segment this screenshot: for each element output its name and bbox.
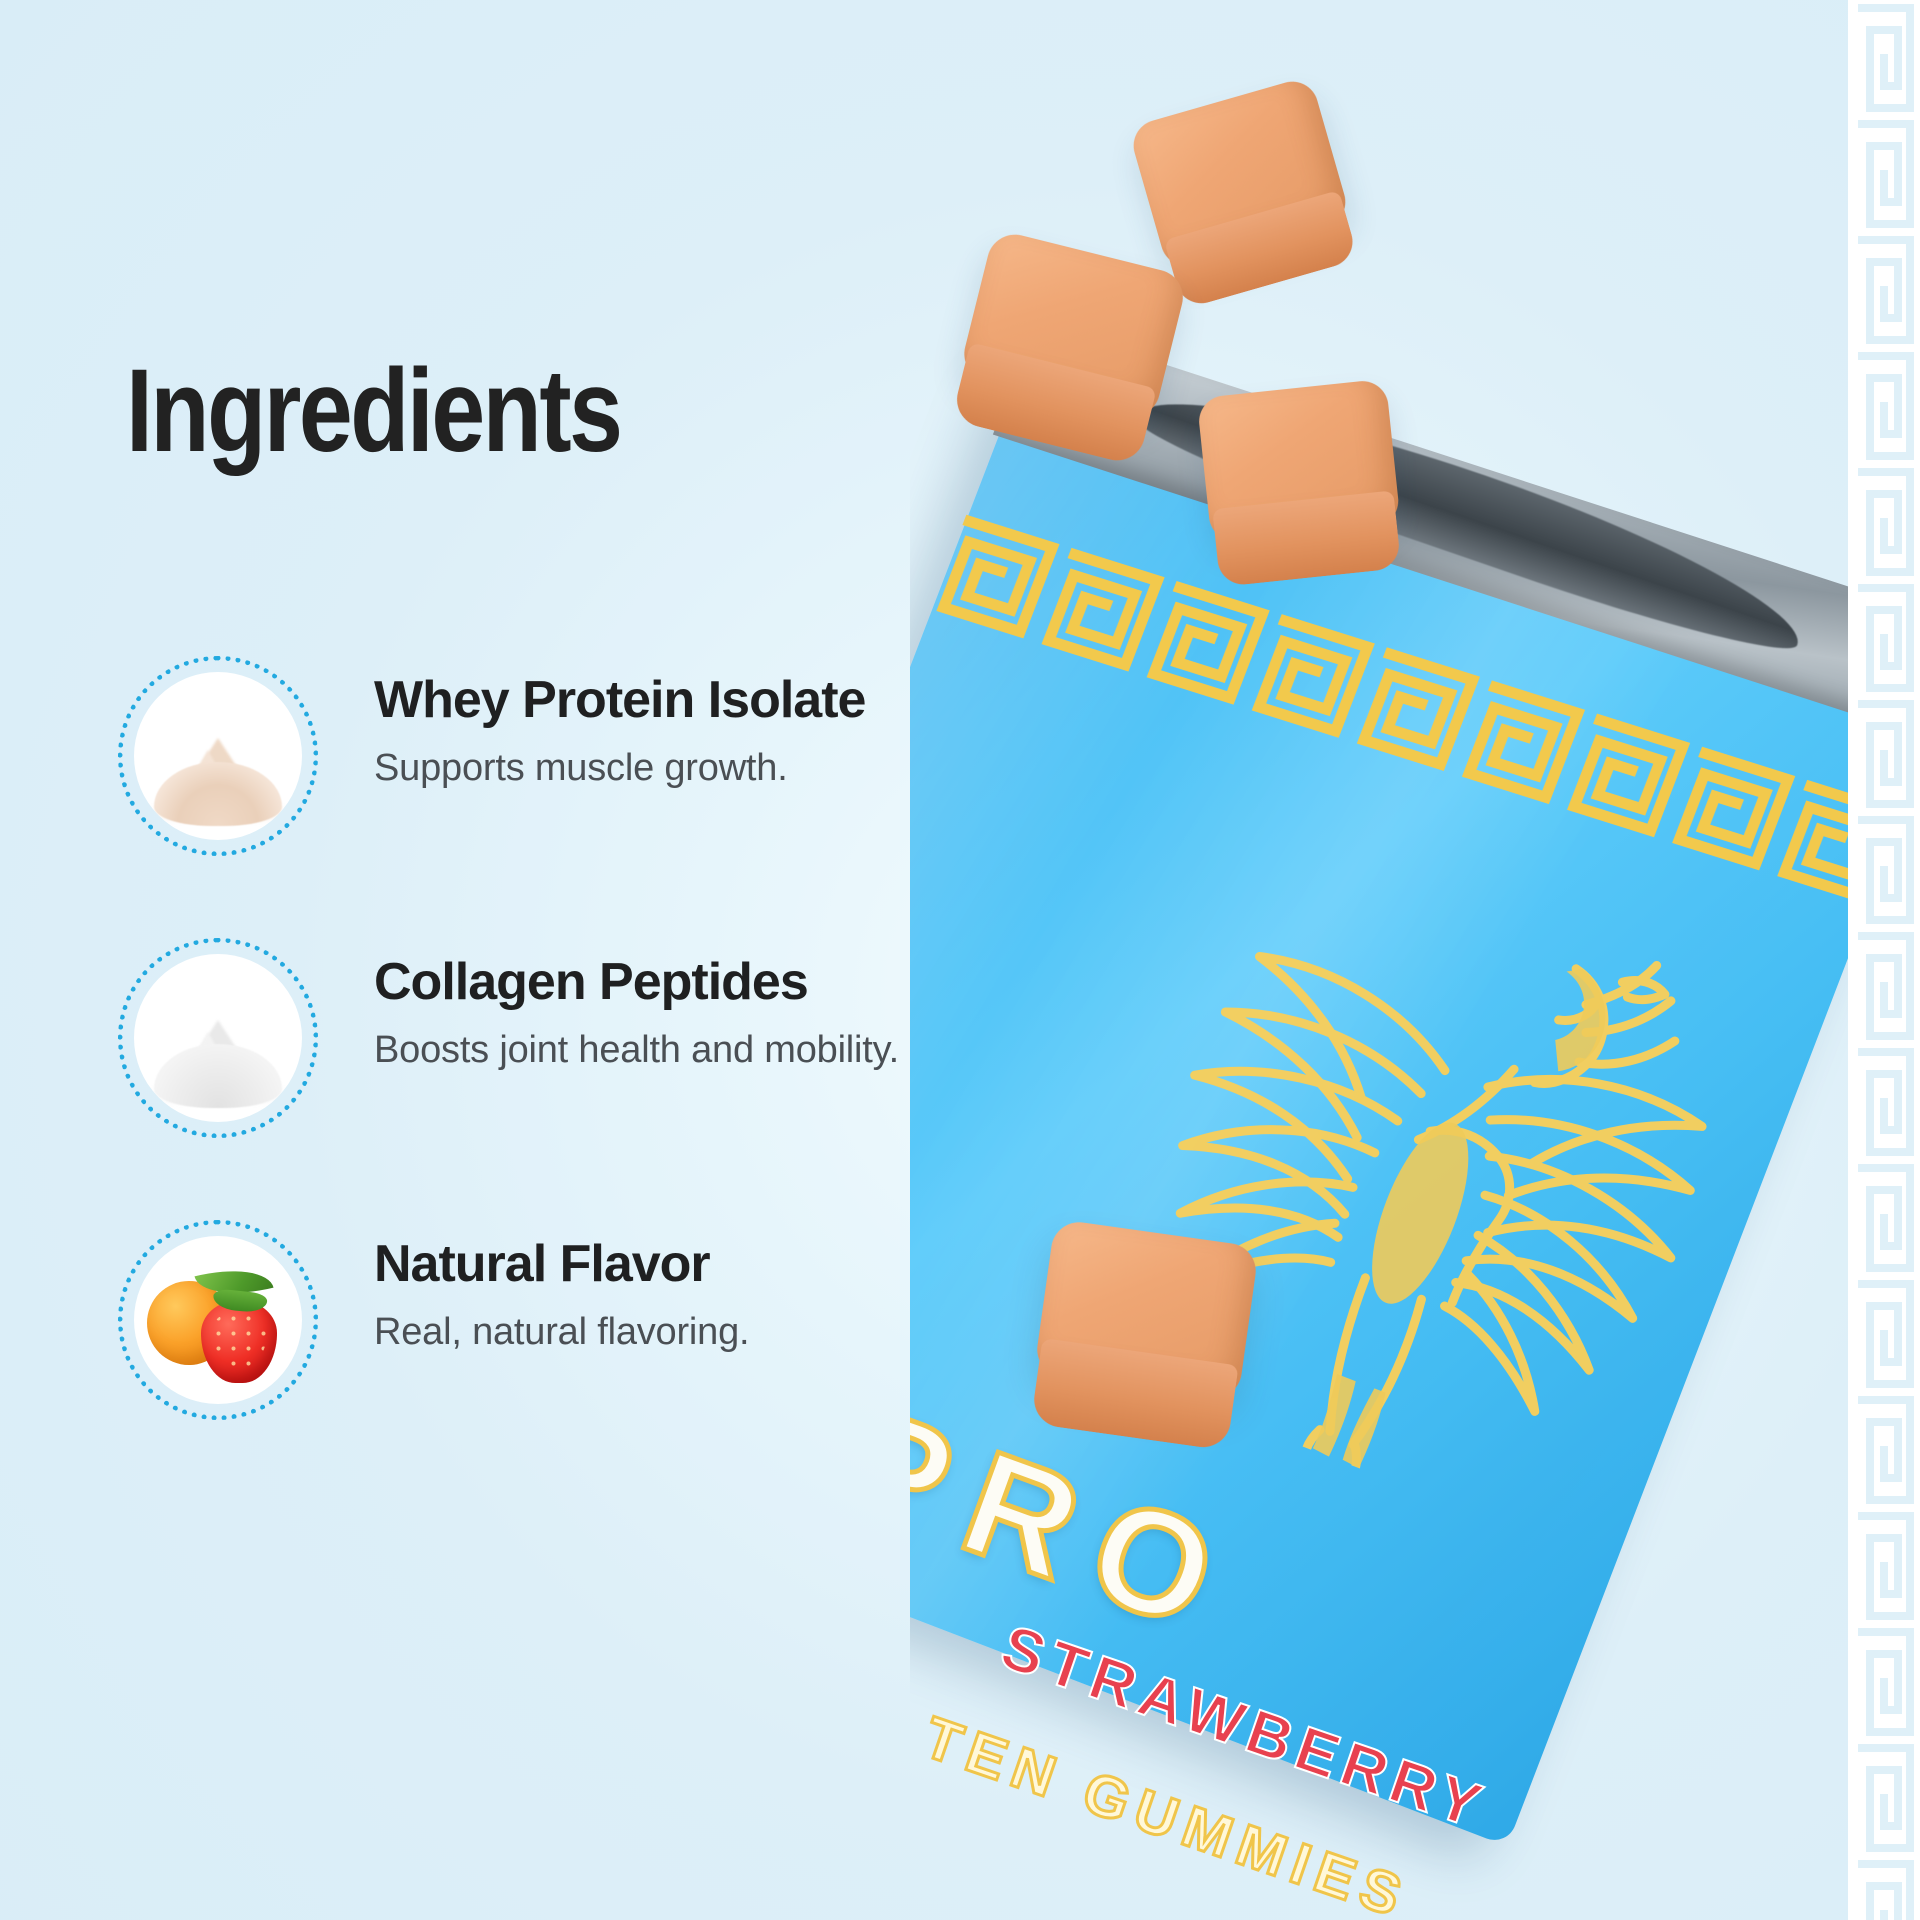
- ingredients-panel: Ingredients Whey Protein Isolate: [0, 0, 1010, 1920]
- ingredient-text: Whey Protein Isolate Supports muscle gro…: [374, 672, 1014, 793]
- list-item: Natural Flavor Real, natural flavoring.: [118, 1220, 998, 1420]
- gummy-cube: [1027, 1219, 1260, 1452]
- ingredient-icon-badge: [118, 1220, 318, 1420]
- whey-protein-powder-icon: [134, 672, 302, 840]
- list-item: Collagen Peptides Boosts joint health an…: [118, 938, 998, 1138]
- ingredient-name: Collagen Peptides: [374, 954, 1014, 1011]
- page-title: Ingredients: [126, 352, 620, 470]
- ingredient-list: Whey Protein Isolate Supports muscle gro…: [118, 656, 998, 1502]
- product-pouch: PRO STRAWBERRY TEN GUMMIES: [910, 300, 1920, 1920]
- ingredient-name: Natural Flavor: [374, 1236, 1014, 1293]
- ingredient-description: Real, natural flavoring.: [374, 1309, 1014, 1357]
- list-item: Whey Protein Isolate Supports muscle gro…: [118, 656, 998, 856]
- ingredient-description: Supports muscle growth.: [374, 745, 1014, 793]
- product-scene: PRO STRAWBERRY TEN GUMMIES: [910, 0, 1920, 1920]
- ingredient-text: Natural Flavor Real, natural flavoring.: [374, 1236, 1014, 1357]
- gummy-cube: [1197, 379, 1406, 588]
- ingredient-icon-badge: [118, 656, 318, 856]
- ingredient-icon-badge: [118, 938, 318, 1138]
- greek-key-border-strip: [1848, 0, 1920, 1920]
- orange-strawberry-fruit-icon: [134, 1236, 302, 1404]
- ingredient-text: Collagen Peptides Boosts joint health an…: [374, 954, 1014, 1075]
- ingredient-description: Boosts joint health and mobility.: [374, 1027, 1014, 1075]
- collagen-powder-icon: [134, 954, 302, 1122]
- ingredient-name: Whey Protein Isolate: [374, 672, 1014, 729]
- infographic-canvas: PRO STRAWBERRY TEN GUMMIES: [0, 0, 1920, 1920]
